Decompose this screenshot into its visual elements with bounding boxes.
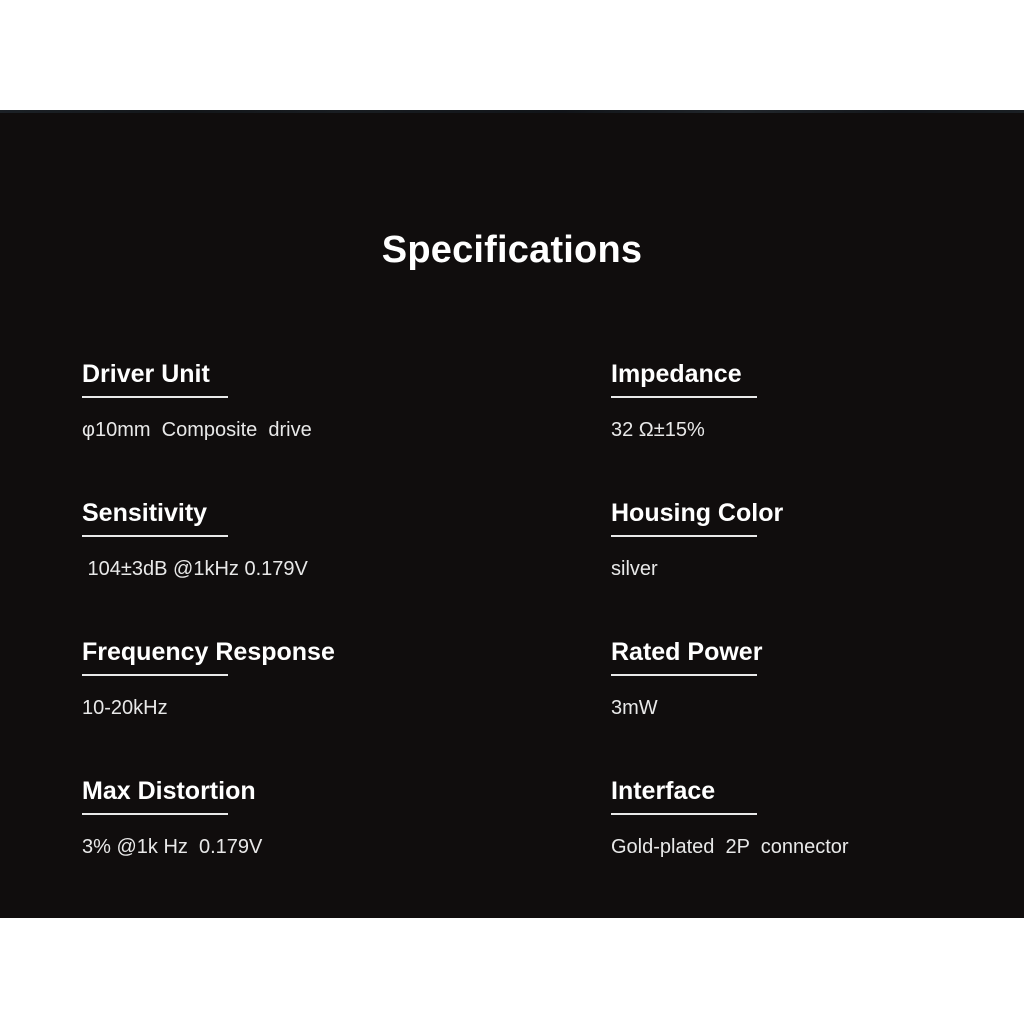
- spec-label-sensitivity: Sensitivity: [82, 501, 207, 526]
- spec-underline: [82, 535, 228, 537]
- spec-underline: [82, 396, 228, 398]
- panel-top-edge-highlight: [0, 110, 1024, 113]
- spec-label-max-distortion: Max Distortion: [82, 779, 256, 804]
- spec-value-interface: Gold-plated 2P connector: [611, 837, 962, 857]
- spec-underline: [82, 674, 228, 676]
- spec-label-interface: Interface: [611, 779, 715, 804]
- spec-underline: [611, 813, 757, 815]
- spec-item-driver-unit: Driver Unit φ10mm Composite drive: [82, 362, 611, 501]
- spec-label-frequency-response: Frequency Response: [82, 640, 335, 665]
- spec-item-interface: Interface Gold-plated 2P connector: [611, 779, 962, 918]
- spec-value-impedance: 32 Ω±15%: [611, 420, 962, 440]
- spec-item-sensitivity: Sensitivity 104±3dB @1kHz 0.179V: [82, 501, 611, 640]
- spec-value-frequency-response: 10-20kHz: [82, 698, 611, 718]
- spec-value-housing-color: silver: [611, 559, 962, 579]
- spec-underline: [611, 674, 757, 676]
- spec-item-frequency-response: Frequency Response 10-20kHz: [82, 640, 611, 779]
- spec-label-driver-unit: Driver Unit: [82, 362, 210, 387]
- spec-value-driver-unit: φ10mm Composite drive: [82, 420, 611, 440]
- specifications-grid: Driver Unit φ10mm Composite drive Impeda…: [82, 362, 962, 918]
- spec-underline: [82, 813, 228, 815]
- spec-item-impedance: Impedance 32 Ω±15%: [611, 362, 962, 501]
- spec-item-rated-power: Rated Power 3mW: [611, 640, 962, 779]
- spec-value-sensitivity: 104±3dB @1kHz 0.179V: [82, 559, 611, 579]
- spec-underline: [611, 396, 757, 398]
- spec-label-impedance: Impedance: [611, 362, 742, 387]
- page-title: Specifications: [0, 231, 1024, 269]
- spec-value-rated-power: 3mW: [611, 698, 962, 718]
- spec-value-max-distortion: 3% @1k Hz 0.179V: [82, 837, 611, 857]
- spec-underline: [611, 535, 757, 537]
- spec-label-housing-color: Housing Color: [611, 501, 783, 526]
- spec-label-rated-power: Rated Power: [611, 640, 762, 665]
- spec-item-housing-color: Housing Color silver: [611, 501, 962, 640]
- spec-item-max-distortion: Max Distortion 3% @1k Hz 0.179V: [82, 779, 611, 918]
- specifications-panel: Specifications Driver Unit φ10mm Composi…: [0, 110, 1024, 918]
